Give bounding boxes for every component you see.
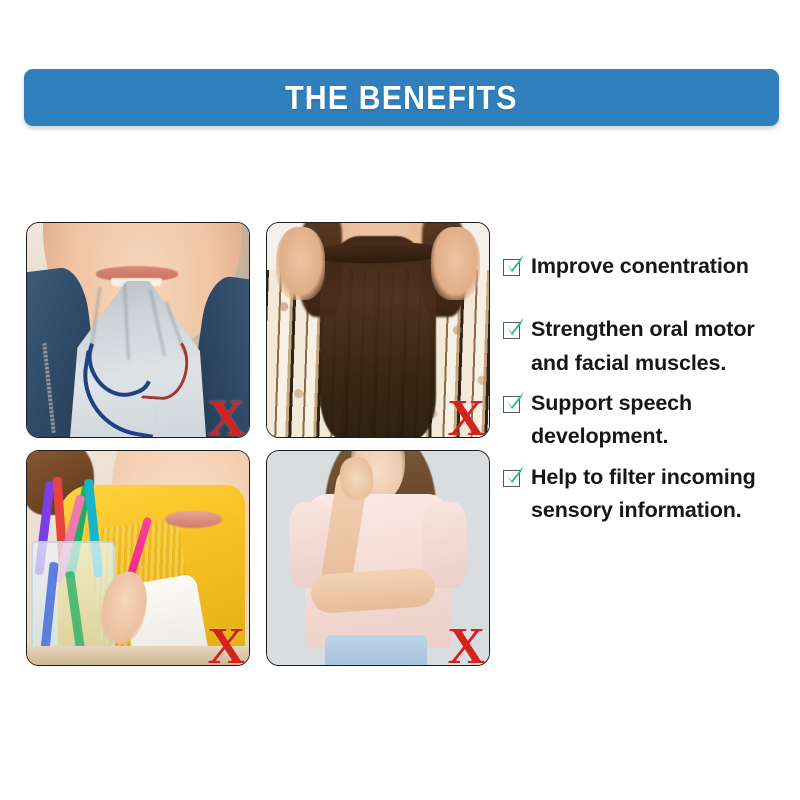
photo-card-chewing-straw[interactable]: X: [26, 450, 250, 666]
checkbox-checked-icon: [503, 257, 522, 276]
benefit-label: Help to filter incoming sensory informat…: [531, 461, 795, 528]
photo-card-biting-nails[interactable]: X: [266, 450, 490, 666]
page-title: THE BENEFITS: [285, 79, 518, 117]
checkbox-checked-icon: [503, 468, 522, 487]
photo-card-chewing-shirt[interactable]: X: [26, 222, 250, 438]
benefit-label: Support speech development.: [531, 387, 795, 454]
red-x-mark-icon: X: [447, 393, 485, 438]
red-x-mark-icon: X: [207, 621, 245, 666]
benefit-item: Support speech development.: [503, 387, 795, 454]
checkbox-checked-icon: [503, 394, 522, 413]
photo-card-chewing-hair[interactable]: X: [266, 222, 490, 438]
benefits-list: Improve conentration Strengthen oral mot…: [503, 250, 795, 527]
benefit-label: Improve conentration: [531, 250, 749, 283]
benefit-item: Improve conentration: [503, 250, 795, 283]
red-x-mark-icon: X: [447, 621, 485, 666]
benefit-label: Strengthen oral motor and facial muscles…: [531, 313, 795, 380]
red-x-mark-icon: X: [207, 393, 245, 438]
benefits-header-banner: THE BENEFITS: [24, 69, 779, 126]
photo-grid: X X: [26, 222, 490, 666]
checkbox-checked-icon: [503, 320, 522, 339]
benefit-item: Help to filter incoming sensory informat…: [503, 461, 795, 528]
benefit-item: Strengthen oral motor and facial muscles…: [503, 313, 795, 380]
